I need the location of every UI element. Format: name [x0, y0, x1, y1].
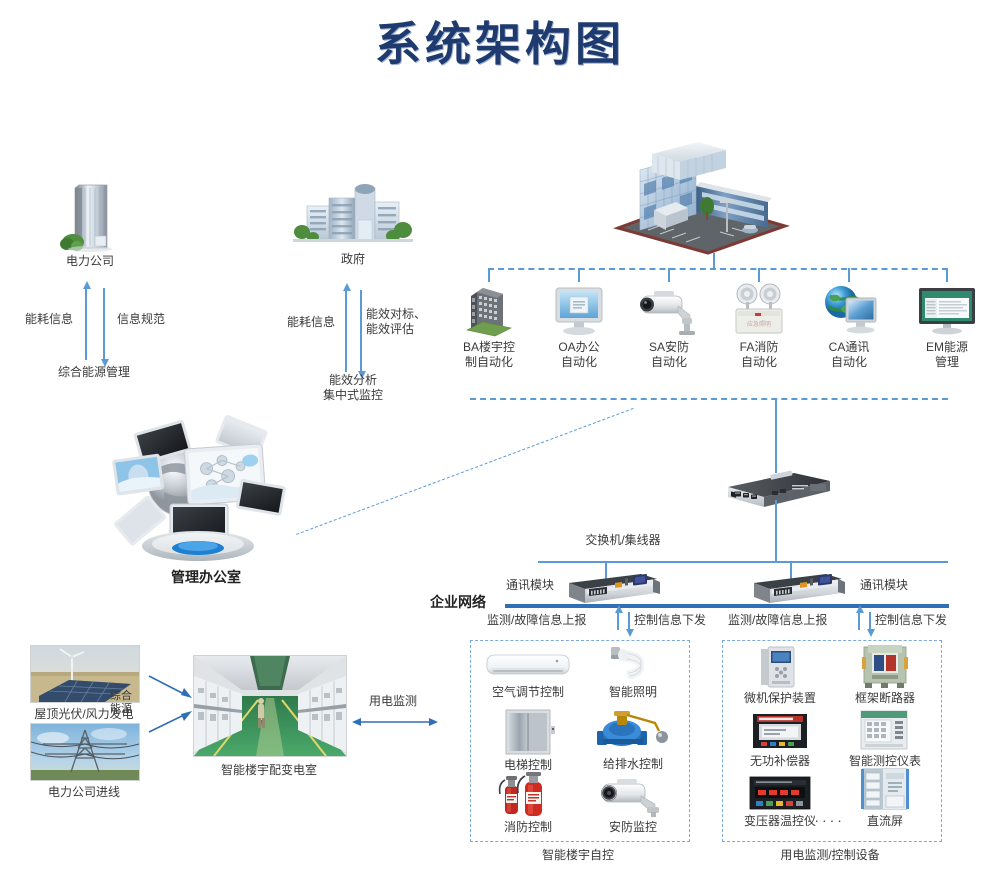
air-conditioner-icon [478, 645, 578, 683]
power-monitoring-bidirectional-arrow [352, 714, 438, 724]
government-up-line [345, 290, 347, 372]
switch-label: 交换机/集线器 [568, 533, 678, 548]
subsystem-oa-label: OA办公 自动化 [540, 340, 618, 370]
cfl-bulb-icon [583, 643, 683, 683]
management-office-label: 管理办公室 [118, 570, 294, 585]
flow-1-up-arrow [858, 612, 860, 630]
dc-power-panel-icon [835, 766, 935, 812]
subsystem-drop-5 [946, 268, 948, 282]
device-smart-lighting-label: 智能照明 [583, 685, 683, 700]
government-up-arrow-label: 能耗信息 [280, 315, 342, 330]
energy-arrow-lower [148, 710, 192, 734]
management-office-to-bus-line [296, 408, 634, 535]
enterprise-network-label: 企业网络 [430, 595, 502, 610]
subsystem-sa[interactable]: SA安防 自动化 [630, 282, 708, 370]
subsystem-sa-label: SA安防 自动化 [630, 340, 708, 370]
power-company-up-arrow-label: 能耗信息 [18, 312, 80, 327]
subsystem-ba-label: BA楼宇控 制自动化 [450, 340, 528, 370]
comm-bus-line [538, 561, 948, 563]
device-elevator-label: 电梯控制 [478, 758, 578, 773]
building-automation-group-title: 智能楼宇自控 [498, 848, 658, 863]
subsystem-drop-0 [488, 268, 490, 282]
power-monitoring-ellipsis: ······ [782, 812, 862, 828]
power-company-up-line [85, 288, 87, 360]
subsystem-ca-label: CA通讯 自动化 [810, 340, 888, 370]
device-smart-meter[interactable]: 智能测控仪表 [835, 706, 935, 769]
energy-management-monitor-icon [908, 282, 986, 338]
cctv-camera-icon [583, 772, 683, 818]
smart-building-icon [600, 140, 790, 260]
office-tower-icon [30, 180, 150, 252]
flow-0-up-arrow [617, 612, 619, 630]
svg-text:应急照明: 应急照明 [747, 320, 771, 328]
subsystem-drop-4 [848, 268, 850, 282]
flow-1-up-label: 监测/故障信息上报 [728, 613, 852, 628]
multi-screen-globe-icon [110, 412, 300, 572]
government-down-line [360, 290, 362, 372]
subsystem-ba[interactable]: BA楼宇控 制自动化 [450, 282, 528, 370]
device-air-conditioner-label: 空气调节控制 [478, 685, 578, 700]
power-company-down-line [103, 288, 105, 360]
device-smart-lighting[interactable]: 智能照明 [583, 643, 683, 700]
flow-0-down-arrow [628, 612, 630, 630]
office-monitor-icon [540, 282, 618, 338]
government-label: 政府 [288, 252, 418, 267]
substation-label: 智能楼宇配变电室 [193, 763, 345, 778]
device-acb-label: 框架断路器 [835, 691, 935, 706]
network-switch-icon [722, 467, 832, 517]
government-node: 政府 [288, 180, 418, 267]
subsystem-fa[interactable]: 应急照明 FA消防 自动化 [720, 282, 798, 370]
elevator-icon [478, 708, 578, 756]
bus-to-switch-line [775, 398, 777, 473]
security-camera-icon [630, 282, 708, 338]
reactive-power-compensator-icon [730, 708, 830, 752]
power-company-down-arrow-label: 信息规范 [108, 312, 174, 327]
substation-room-photo [193, 655, 347, 757]
subsystem-fa-label: FA消防 自动化 [720, 340, 798, 370]
comm-module-0-label: 通讯模块 [498, 578, 562, 593]
water-valve-icon [583, 705, 683, 755]
emergency-light-icon: 应急照明 [720, 282, 798, 338]
flow-0-down-label: 控制信息下发 [634, 613, 728, 628]
device-reactive-compensator-label: 无功补偿器 [730, 754, 830, 769]
protection-relay-icon [730, 645, 830, 689]
globe-network-icon [810, 282, 888, 338]
substation-node[interactable]: 智能楼宇配变电室 [193, 655, 347, 778]
device-water-valve-label: 给排水控制 [583, 757, 683, 772]
subsystem-bottom-bus [470, 398, 948, 400]
building-to-bus-line [713, 253, 715, 269]
government-building-icon [288, 180, 418, 250]
power-company-node: 电力公司 [30, 180, 150, 269]
subsystem-em[interactable]: EM能源 管理 [908, 282, 986, 370]
subsystem-drop-2 [668, 268, 670, 282]
energy-source-grid-line[interactable]: 电力公司进线 [30, 723, 140, 800]
smart-meter-icon [835, 706, 935, 752]
building-automation-icon [450, 282, 528, 338]
enterprise-network-bus [505, 604, 949, 608]
subsystem-bus-line [488, 268, 948, 270]
device-protection-relay[interactable]: 微机保护装置 [730, 645, 830, 706]
device-fire-control-label: 消防控制 [478, 820, 578, 835]
device-fire-control[interactable]: 消防控制 [478, 772, 578, 835]
flow-1-down-arrow [869, 612, 871, 630]
subsystem-em-label: EM能源 管理 [908, 340, 986, 370]
flow-0-up-label: 监测/故障信息上报 [487, 613, 611, 628]
device-water-valve[interactable]: 给排水控制 [583, 705, 683, 772]
switch-to-comm-bus-line [775, 500, 777, 562]
subsystem-ca[interactable]: CA通讯 自动化 [810, 282, 888, 370]
power-company-label: 电力公司 [30, 254, 150, 269]
subsystem-drop-1 [578, 268, 580, 282]
transmission-tower-photo [30, 723, 140, 781]
subsystem-drop-3 [758, 268, 760, 282]
energy-source-grid-line-label: 电力公司进线 [30, 785, 138, 800]
device-security-monitoring-label: 安防监控 [583, 820, 683, 835]
device-reactive-compensator[interactable]: 无功补偿器 [730, 708, 830, 769]
comprehensive-energy-management-label: 综合能源管理 [24, 365, 164, 380]
government-down-arrow-label: 能效对标、 能效评估 [366, 307, 436, 337]
energy-analysis-label: 能效分析 集中式监控 [293, 373, 413, 403]
system-architecture-diagram: 系统架构图 [0, 0, 1000, 889]
flow-1-down-label: 控制信息下发 [875, 613, 969, 628]
subsystem-oa[interactable]: OA办公 自动化 [540, 282, 618, 370]
air-circuit-breaker-icon [835, 643, 935, 689]
device-protection-relay-label: 微机保护装置 [730, 691, 830, 706]
power-monitoring-arrow-label: 用电监测 [358, 694, 428, 709]
device-acb[interactable]: 框架断路器 [835, 643, 935, 706]
device-security-monitoring[interactable]: 安防监控 [583, 772, 683, 835]
comm-module-1-label: 通讯模块 [852, 578, 916, 593]
energy-arrow-label: 综合能源 [106, 690, 136, 716]
device-elevator[interactable]: 电梯控制 [478, 708, 578, 773]
fire-extinguisher-icon [478, 772, 578, 818]
transformer-temp-controller-icon [730, 770, 830, 812]
page-title: 系统架构图 [0, 8, 1000, 74]
energy-arrow-upper [148, 674, 192, 698]
power-monitoring-group-title: 用电监测/控制设备 [750, 848, 910, 863]
device-air-conditioner[interactable]: 空气调节控制 [478, 645, 578, 700]
